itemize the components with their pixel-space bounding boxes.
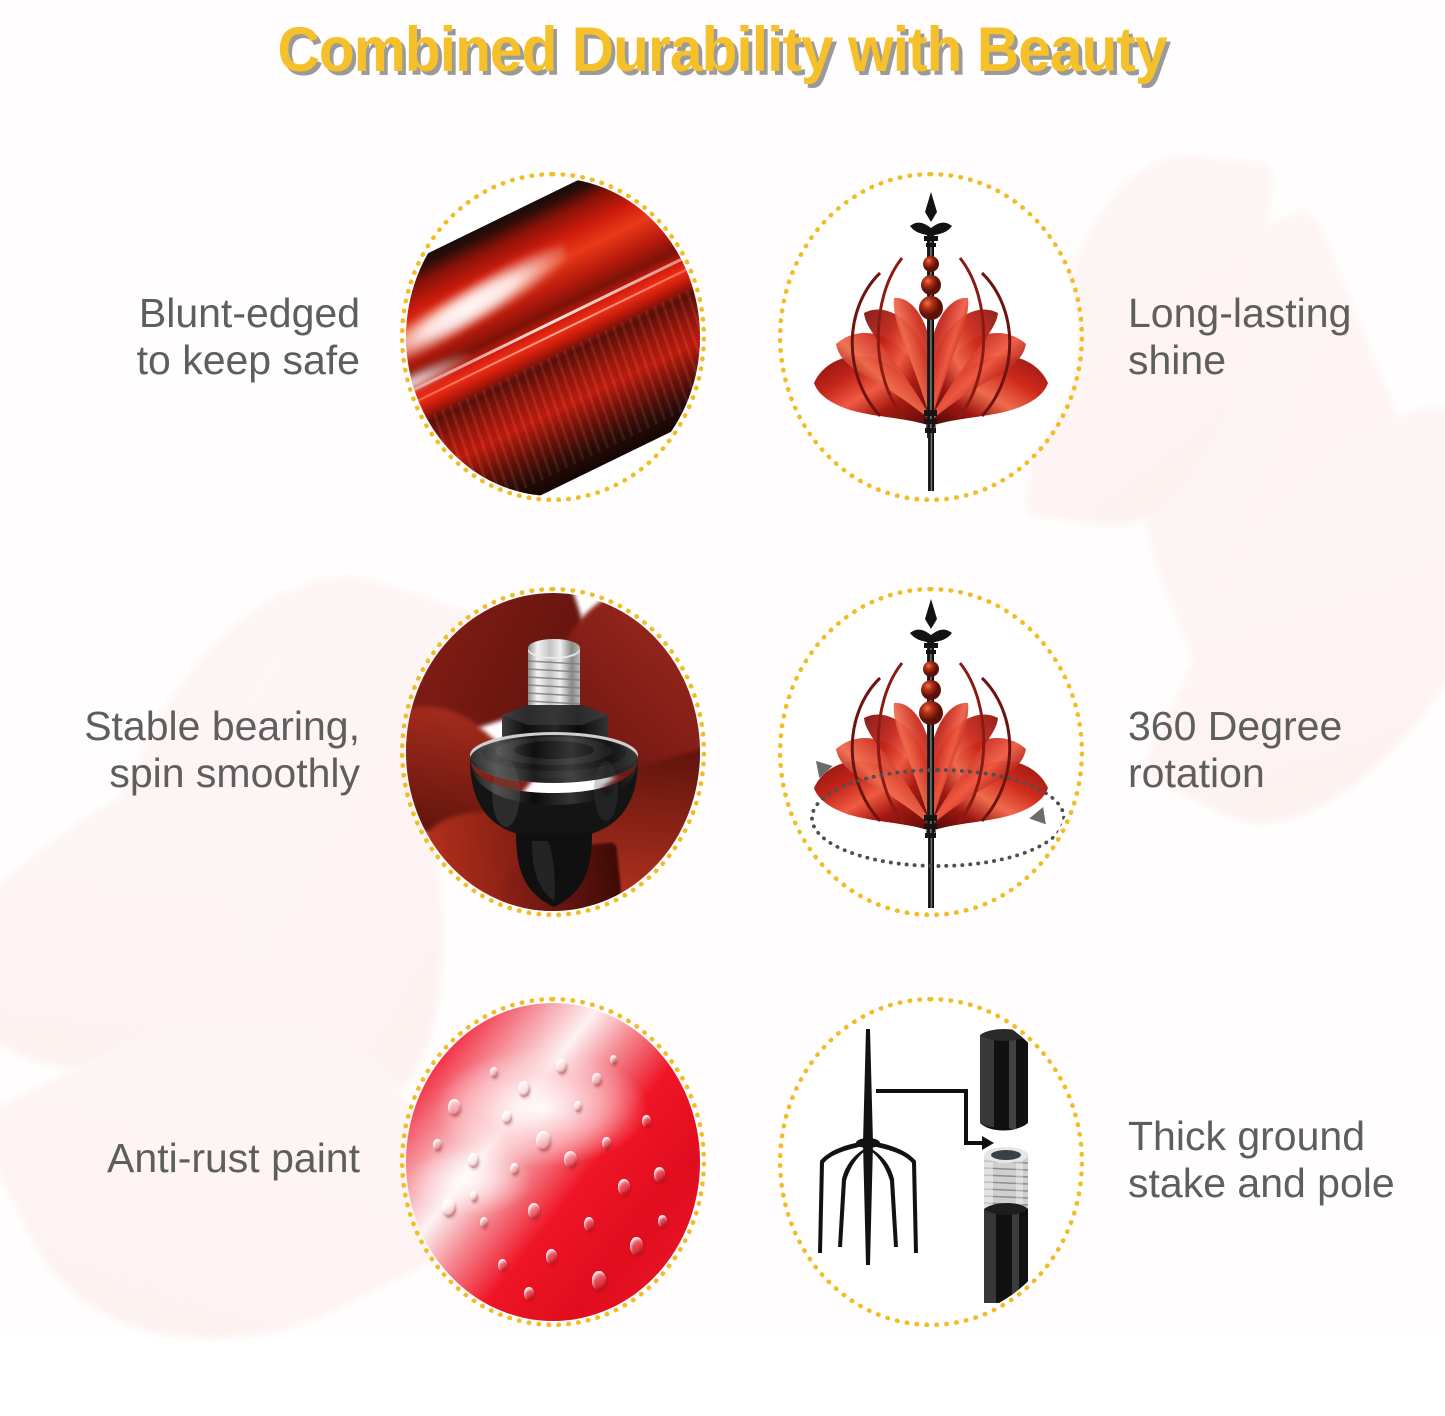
- dotted-ring-icon: [400, 587, 706, 917]
- feature-image-anti-rust-paint: [400, 997, 706, 1327]
- dotted-ring-icon: [400, 997, 706, 1327]
- feature-label-blunt-edged: Blunt-edged to keep safe: [137, 290, 360, 383]
- feature-grid: Blunt-edged to keep safe: [0, 0, 1445, 1335]
- feature-label-360-degree-rotation: 360 Degree rotation: [1128, 703, 1342, 796]
- feature-label-long-lasting-shine: Long-lasting shine: [1128, 290, 1351, 383]
- page-title-container: Combined Durability with Beauty: [0, 0, 1445, 100]
- dotted-ring-icon: [778, 172, 1084, 502]
- dotted-ring-icon: [400, 172, 706, 502]
- feature-image-glossy-red-tube: [400, 172, 706, 502]
- feature-row-3: Anti-rust paint: [0, 995, 1445, 1335]
- page-title: Combined Durability with Beauty: [278, 14, 1167, 86]
- feature-image-wind-spinner: [778, 172, 1084, 502]
- dotted-ring-icon: [778, 997, 1084, 1327]
- dotted-ring-icon: [778, 587, 1084, 917]
- feature-row-2: Stable bearing, spin smoothly: [0, 585, 1445, 925]
- feature-image-bearing: [400, 587, 706, 917]
- feature-label-anti-rust-paint: Anti-rust paint: [107, 1135, 360, 1182]
- feature-image-rotation: [778, 587, 1084, 917]
- feature-label-thick-ground-stake: Thick ground stake and pole: [1128, 1113, 1395, 1206]
- feature-label-stable-bearing: Stable bearing, spin smoothly: [84, 703, 360, 796]
- feature-image-ground-stake-and-pole: [778, 997, 1084, 1327]
- feature-row-1: Blunt-edged to keep safe: [0, 170, 1445, 510]
